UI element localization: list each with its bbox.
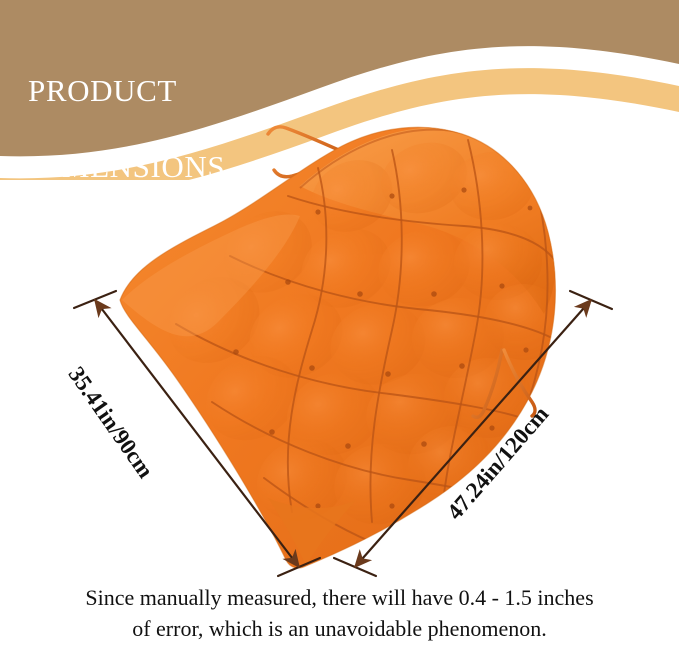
disclaimer-line-2: of error, which is an unavoidable phenom… bbox=[0, 613, 679, 644]
measurement-disclaimer: Since manually measured, there will have… bbox=[0, 582, 679, 644]
dimension-line-depth bbox=[74, 291, 320, 576]
page-title-line-2: DIMENSIONS bbox=[28, 148, 225, 186]
disclaimer-line-1: Since manually measured, there will have… bbox=[0, 582, 679, 613]
depth-extension-tick-top bbox=[74, 291, 116, 308]
page-title: PRODUCT DIMENSIONS bbox=[28, 34, 225, 224]
depth-measure-line bbox=[95, 300, 299, 567]
width-measure-line bbox=[355, 300, 591, 567]
infographic-canvas: PRODUCT DIMENSIONS bbox=[0, 0, 679, 658]
dimension-line-width bbox=[334, 291, 612, 576]
page-title-line-1: PRODUCT bbox=[28, 72, 225, 110]
